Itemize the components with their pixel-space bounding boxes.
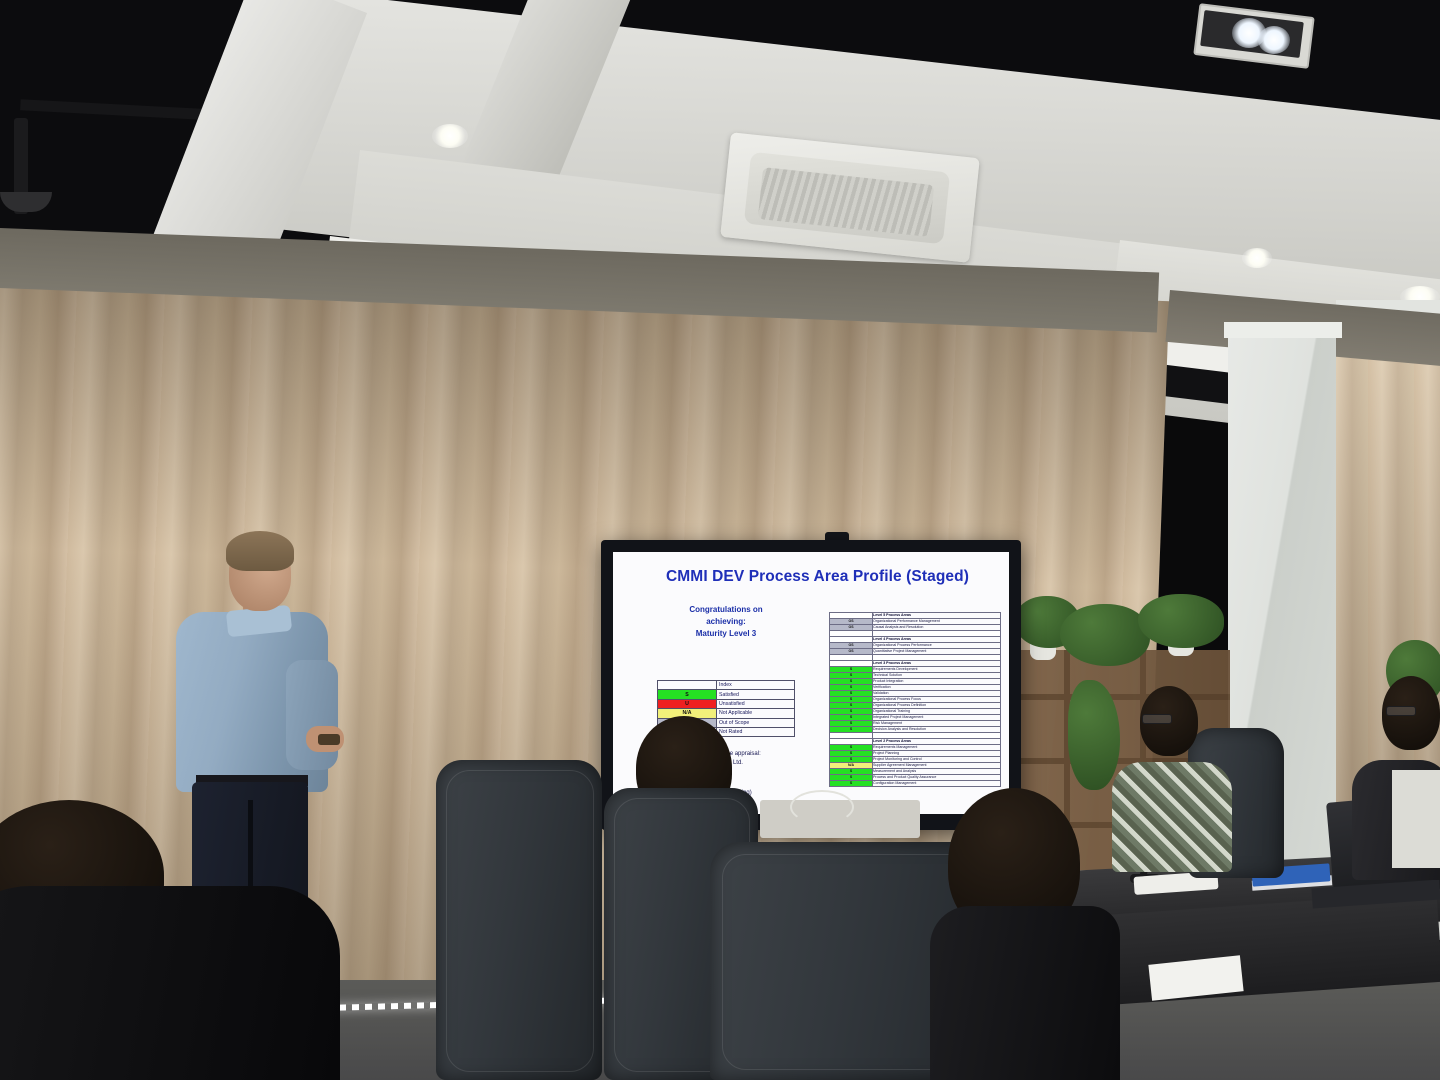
presenter-hair bbox=[226, 531, 294, 571]
presenter-arm bbox=[286, 660, 338, 770]
legend-code: U bbox=[658, 699, 717, 708]
legend-label: Not Applicable bbox=[717, 709, 795, 718]
legend-header-blank bbox=[658, 681, 717, 690]
congratulations-block: Congratulations on achieving: Maturity L… bbox=[651, 604, 801, 640]
potted-plant bbox=[1060, 604, 1150, 666]
legend-row: SSatisfied bbox=[658, 690, 795, 699]
conference-room-photo: CMMI DEV Process Area Profile (Staged) C… bbox=[0, 0, 1440, 1080]
pa-row: SConfiguration Management bbox=[830, 781, 1001, 787]
legend-code: S bbox=[658, 690, 717, 699]
congrats-line-3: Maturity Level 3 bbox=[651, 628, 801, 640]
legend-header-row: Index bbox=[658, 681, 795, 690]
cable-loop bbox=[790, 790, 854, 824]
downlight-icon bbox=[432, 124, 468, 148]
presentation-clicker bbox=[318, 734, 340, 745]
pa-area-name: Configuration Management bbox=[873, 781, 1001, 787]
spotlight-bulb-icon bbox=[1258, 26, 1290, 54]
attendee-dark-vest-shirt bbox=[1392, 770, 1440, 868]
legend-label: Not Rated bbox=[717, 727, 795, 736]
legend-label: Unsatisfied bbox=[717, 699, 795, 708]
attendee-front-right-body bbox=[930, 906, 1120, 1080]
legend-label: Out of Scope bbox=[717, 718, 795, 727]
process-area-profile-table: Level 5 Process AreasOSOrganizational Pe… bbox=[829, 612, 1001, 787]
congrats-line-2: achieving: bbox=[651, 616, 801, 628]
downlight-icon bbox=[1242, 248, 1272, 268]
congrats-line-1: Congratulations on bbox=[651, 604, 801, 616]
attendee-checkered-shirt-body bbox=[1112, 762, 1232, 872]
attendee-front-left-body bbox=[0, 886, 340, 1080]
pa-status-code: S bbox=[830, 781, 873, 787]
conference-chair[interactable] bbox=[436, 760, 602, 1080]
potted-plant bbox=[1138, 594, 1224, 648]
legend-label: Satisfied bbox=[717, 690, 795, 699]
structural-column-cap bbox=[1224, 322, 1342, 338]
slide-title: CMMI DEV Process Area Profile (Staged) bbox=[635, 568, 1000, 586]
legend-header-label: Index bbox=[717, 681, 795, 690]
eyeglasses-icon bbox=[1386, 706, 1416, 716]
eyeglasses-icon bbox=[1142, 714, 1172, 724]
legend-row: UUnsatisfied bbox=[658, 699, 795, 708]
